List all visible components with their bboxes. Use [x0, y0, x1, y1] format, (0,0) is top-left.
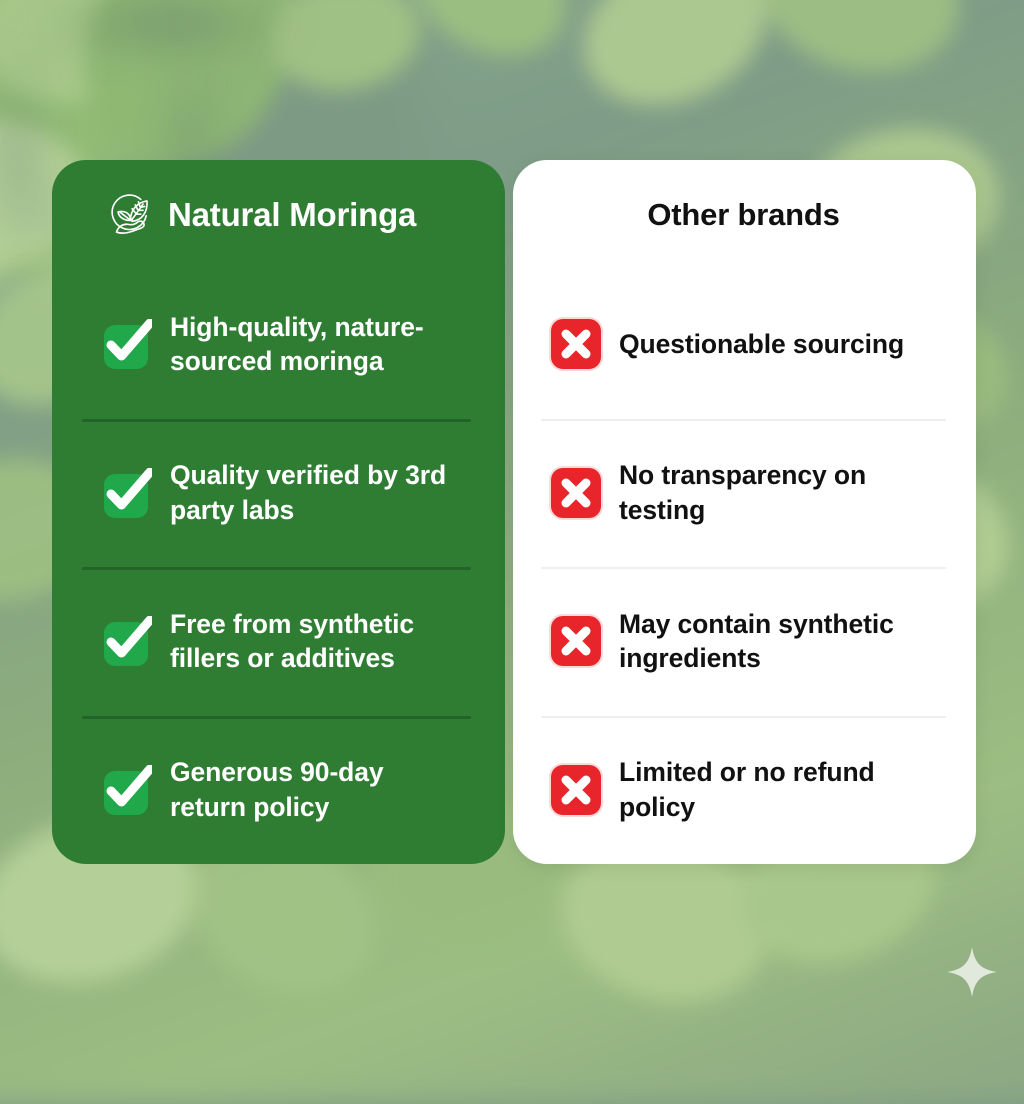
other-brands-rows: Questionable sourcing No transparency on…	[529, 270, 958, 864]
natural-moringa-column: Natural Moringa High-quality, nature-sou…	[52, 160, 505, 864]
benefit-row-label: Quality verified by 3rd party labs	[170, 458, 463, 527]
leaf-in-hand-icon	[104, 190, 154, 240]
drawback-row-label: Limited or no refund policy	[619, 755, 944, 824]
x-icon	[551, 468, 601, 518]
x-icon	[551, 319, 601, 369]
x-icon	[551, 765, 601, 815]
four-point-sparkle-icon	[946, 946, 998, 998]
natural-moringa-header: Natural Moringa	[70, 160, 483, 270]
other-brands-column: Other brands Questionable sourcing No tr…	[513, 160, 976, 864]
drawback-row-label: Questionable sourcing	[619, 327, 904, 361]
drawback-row: No transparency on testing	[529, 419, 958, 568]
drawback-row: Limited or no refund policy	[529, 716, 958, 865]
drawback-row: May contain synthetic ingredients	[529, 567, 958, 716]
natural-moringa-rows: High-quality, nature-sourced moringa Qua…	[70, 270, 483, 864]
comparison-table: Natural Moringa High-quality, nature-sou…	[52, 160, 976, 864]
benefit-row: Generous 90-day return policy	[70, 716, 483, 865]
benefit-row: Free from synthetic fillers or additives	[70, 567, 483, 716]
check-icon	[102, 468, 152, 518]
other-brands-header: Other brands	[529, 160, 958, 270]
benefit-row-label: Generous 90-day return policy	[170, 755, 463, 824]
check-icon	[102, 319, 152, 369]
other-brands-title: Other brands	[647, 197, 839, 233]
benefit-row: Quality verified by 3rd party labs	[70, 419, 483, 568]
check-icon	[102, 765, 152, 815]
drawback-row-label: No transparency on testing	[619, 458, 944, 527]
natural-moringa-title: Natural Moringa	[168, 196, 416, 234]
drawback-row-label: May contain synthetic ingredients	[619, 607, 944, 676]
x-icon	[551, 616, 601, 666]
check-icon	[102, 616, 152, 666]
benefit-row-label: Free from synthetic fillers or additives	[170, 607, 463, 676]
benefit-row-label: High-quality, nature-sourced moringa	[170, 310, 463, 379]
benefit-row: High-quality, nature-sourced moringa	[70, 270, 483, 419]
drawback-row: Questionable sourcing	[529, 270, 958, 419]
